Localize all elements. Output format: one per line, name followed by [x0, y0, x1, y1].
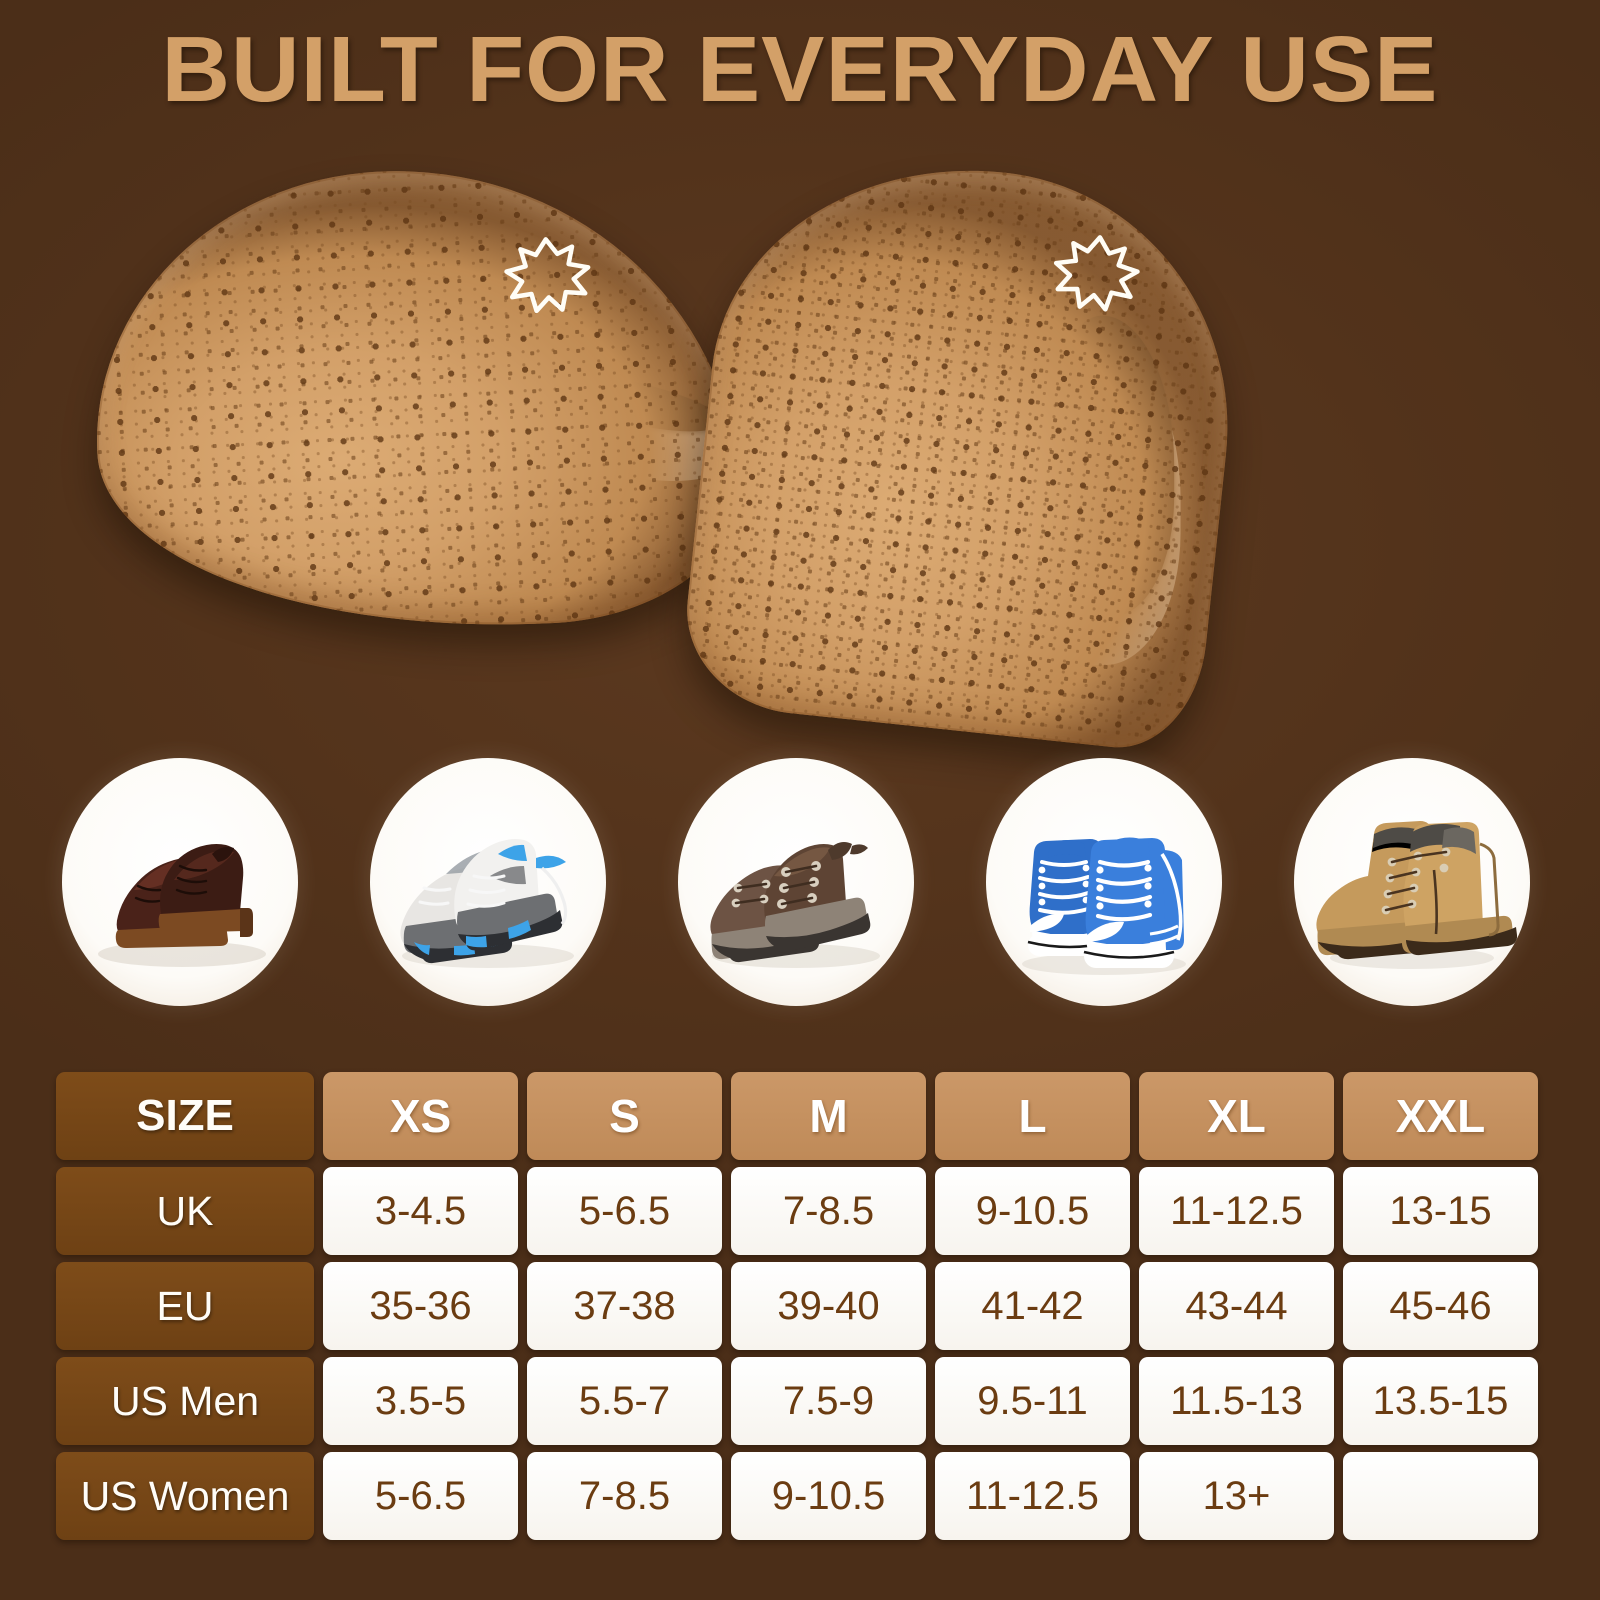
size-chart-cell-uk-xl: 11-12.5: [1139, 1167, 1334, 1255]
leaf-logo-icon: [492, 230, 604, 322]
size-chart-cell-us-men-xl: 11.5-13: [1139, 1357, 1334, 1445]
size-chart-cell-uk-xs: 3-4.5: [323, 1167, 518, 1255]
circle-background: [678, 758, 914, 1006]
size-chart-corner-label: SIZE: [56, 1072, 314, 1160]
page-title: BUILT FOR EVERYDAY USE: [0, 16, 1600, 123]
running-sneakers-icon: [370, 758, 606, 1006]
size-chart-cell-us-men-l: 9.5-11: [935, 1357, 1130, 1445]
size-chart-cell-us-women-xs: 5-6.5: [323, 1452, 518, 1540]
circle-background: [986, 758, 1222, 1006]
size-chart-cell-us-women-l: 11-12.5: [935, 1452, 1130, 1540]
size-chart-cell-uk-xxl: 13-15: [1343, 1167, 1538, 1255]
infographic-page: BUILT FOR EVERYDAY USE: [0, 0, 1600, 1600]
circle-background: [1294, 758, 1530, 1006]
size-chart-cell-us-women-s: 7-8.5: [527, 1452, 722, 1540]
size-chart-cell-eu-xs: 35-36: [323, 1262, 518, 1350]
insole-right: [677, 144, 1253, 755]
size-chart-cell-us-women-xl: 13+: [1139, 1452, 1334, 1540]
work-boots-icon: [1294, 758, 1530, 1006]
circle-background: [62, 758, 298, 1006]
size-chart-col-header-s: S: [527, 1072, 722, 1160]
size-chart-cell-us-men-s: 5.5-7: [527, 1357, 722, 1445]
size-chart-col-header-xxl: XXL: [1343, 1072, 1538, 1160]
size-chart-cell-eu-s: 37-38: [527, 1262, 722, 1350]
size-chart-col-header-l: L: [935, 1072, 1130, 1160]
size-chart-cell-us-men-xs: 3.5-5: [323, 1357, 518, 1445]
leaf-logo-icon: [1038, 225, 1154, 322]
shoe-circle-hiking-shoes[interactable]: [678, 758, 914, 1006]
size-chart-cell-uk-l: 9-10.5: [935, 1167, 1130, 1255]
size-chart-cell-us-men-m: 7.5-9: [731, 1357, 926, 1445]
size-chart-cell-eu-m: 39-40: [731, 1262, 926, 1350]
size-chart-cell-uk-s: 5-6.5: [527, 1167, 722, 1255]
size-chart-row-label-us-men: US Men: [56, 1357, 314, 1445]
insole-left-rim: [83, 154, 746, 647]
size-chart-row-label-uk: UK: [56, 1167, 314, 1255]
dress-shoes-icon: [62, 758, 298, 1006]
insole-left: [83, 154, 746, 647]
canvas-high-tops-icon: [986, 758, 1222, 1006]
title-bar: BUILT FOR EVERYDAY USE: [0, 16, 1600, 123]
size-chart-col-header-m: M: [731, 1072, 926, 1160]
size-chart-col-header-xs: XS: [323, 1072, 518, 1160]
shoe-circle-work-boots[interactable]: [1294, 758, 1530, 1006]
insole-right-rim: [677, 144, 1253, 755]
size-chart-table: SIZE XS S M L XL XXL UK 3-4.5 5-6.5 7-8.…: [56, 1072, 1538, 1540]
size-chart-row-label-eu: EU: [56, 1262, 314, 1350]
shoe-circle-dress-shoes[interactable]: [62, 758, 298, 1006]
size-chart-cell-us-women-m: 9-10.5: [731, 1452, 926, 1540]
shoe-circle-running-sneakers[interactable]: [370, 758, 606, 1006]
size-chart-cell-us-men-xxl: 13.5-15: [1343, 1357, 1538, 1445]
size-chart-cell-eu-l: 41-42: [935, 1262, 1130, 1350]
hiking-shoes-icon: [678, 758, 914, 1006]
compatible-shoes-row: [0, 758, 1600, 1008]
size-chart-cell-eu-xxl: 45-46: [1343, 1262, 1538, 1350]
size-chart-cell-eu-xl: 43-44: [1139, 1262, 1334, 1350]
size-chart-col-header-xl: XL: [1139, 1072, 1334, 1160]
size-chart-row-label-us-women: US Women: [56, 1452, 314, 1540]
circle-background: [370, 758, 606, 1006]
size-chart-cell-uk-m: 7-8.5: [731, 1167, 926, 1255]
size-chart-cell-us-women-xxl: [1343, 1452, 1538, 1540]
product-photo-area: [0, 160, 1600, 740]
shoe-circle-canvas-high-tops[interactable]: [986, 758, 1222, 1006]
